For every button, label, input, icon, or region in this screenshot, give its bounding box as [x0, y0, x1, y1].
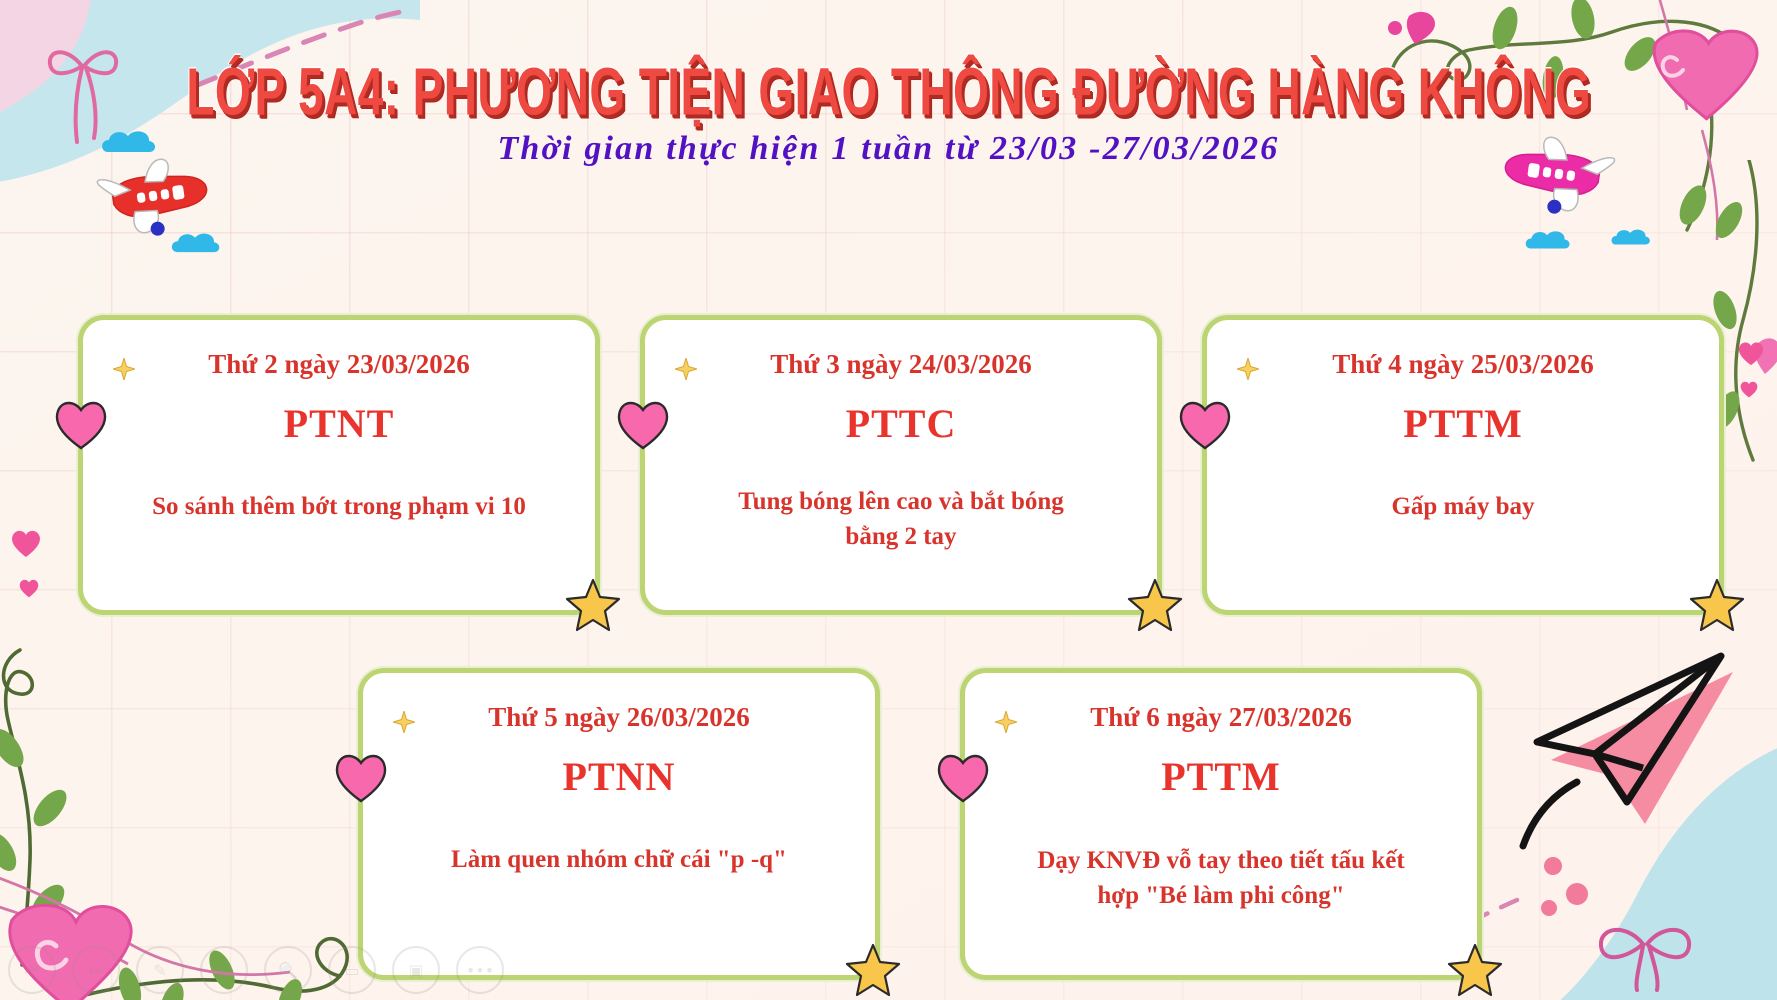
star-sticker-icon [565, 578, 621, 632]
card-description-line: Tung bóng lên cao và bắt bóng [738, 484, 1064, 520]
notes-icon[interactable]: ▤ [200, 946, 248, 994]
star-sticker-icon [1689, 578, 1745, 632]
page-subtitle: Thời gian thực hiện 1 tuần từ 23/03 -27/… [0, 130, 1777, 168]
sparkle-icon [1237, 358, 1259, 380]
card-date: Thứ 6 ngày 27/03/2026 [1090, 703, 1352, 733]
heart-sticker-icon [333, 751, 389, 803]
zoom-icon[interactable]: 🔍 [264, 946, 312, 994]
card-description: Gấp máy bay [1387, 489, 1538, 525]
heart-sticker-icon [615, 398, 671, 450]
previous-icon[interactable]: ⏮ [8, 946, 56, 994]
page-title-text: LỚP 5A4: PHƯƠNG TIỆN GIAO THÔNG ĐƯỜNG HÀ… [186, 52, 1591, 130]
page-subtitle-text: Thời gian thực hiện 1 tuần từ 23/03 -27/… [497, 130, 1279, 168]
schedule-card[interactable]: Thứ 4 ngày 25/03/2026 PTTM Gấp máy bay [1202, 315, 1724, 615]
card-description-line: Gấp máy bay [1391, 489, 1534, 525]
schedule-card[interactable]: Thứ 2 ngày 23/03/2026 PTNT So sánh thêm … [78, 315, 600, 615]
card-description: Tung bóng lên cao và bắt bóng bằng 2 tay [734, 484, 1068, 555]
caption-icon[interactable]: ▭ [328, 946, 376, 994]
card-description-line: bằng 2 tay [738, 519, 1064, 555]
page-title: LỚP 5A4: PHƯƠNG TIỆN GIAO THÔNG ĐƯỜNG HÀ… [0, 52, 1777, 107]
star-sticker-icon [1447, 943, 1503, 997]
heart-sticker-icon [53, 398, 109, 450]
card-description-line: So sánh thêm bớt trong phạm vi 10 [152, 489, 526, 525]
slide-canvas: LỚP 5A4: PHƯƠNG TIỆN GIAO THÔNG ĐƯỜNG HÀ… [0, 0, 1777, 1000]
card-code: PTNN [563, 753, 676, 800]
sparkle-icon [995, 711, 1017, 733]
star-sticker-icon [1127, 578, 1183, 632]
sparkle-icon [675, 358, 697, 380]
card-code: PTTM [1403, 400, 1523, 447]
star-sticker-icon [845, 943, 901, 997]
heart-sticker-icon [935, 751, 991, 803]
schedule-card[interactable]: Thứ 3 ngày 24/03/2026 PTTC Tung bóng lên… [640, 315, 1162, 615]
media-control-bar[interactable]: ⏮ ⏭ ✎ ▤ 🔍 ▭ ▣ ••• [8, 946, 504, 994]
sparkle-icon [113, 358, 135, 380]
screen-icon[interactable]: ▣ [392, 946, 440, 994]
card-date: Thứ 4 ngày 25/03/2026 [1332, 350, 1594, 380]
card-date: Thứ 5 ngày 26/03/2026 [488, 703, 750, 733]
more-options-icon[interactable]: ••• [456, 946, 504, 994]
schedule-card[interactable]: Thứ 6 ngày 27/03/2026 PTTM Dạy KNVĐ vỗ t… [960, 668, 1482, 980]
card-code: PTTC [846, 400, 957, 447]
sparkle-icon [393, 711, 415, 733]
heart-sticker-icon [1177, 398, 1233, 450]
card-description-line: Dạy KNVĐ vỗ tay theo tiết tấu kết [1037, 843, 1404, 879]
card-description: So sánh thêm bớt trong phạm vi 10 [148, 489, 530, 525]
card-description-line: hợp "Bé làm phi công" [1037, 878, 1404, 914]
card-description-line: Làm quen nhóm chữ cái "p -q" [451, 842, 787, 878]
card-code: PTTM [1161, 753, 1281, 800]
card-date: Thứ 2 ngày 23/03/2026 [208, 350, 470, 380]
card-description: Làm quen nhóm chữ cái "p -q" [447, 842, 791, 878]
card-code: PTNT [284, 400, 395, 447]
card-description: Dạy KNVĐ vỗ tay theo tiết tấu kết hợp "B… [1033, 843, 1408, 914]
card-date: Thứ 3 ngày 24/03/2026 [770, 350, 1032, 380]
pen-icon[interactable]: ✎ [136, 946, 184, 994]
schedule-card[interactable]: Thứ 5 ngày 26/03/2026 PTNN Làm quen nhóm… [358, 668, 880, 980]
next-icon[interactable]: ⏭ [72, 946, 120, 994]
